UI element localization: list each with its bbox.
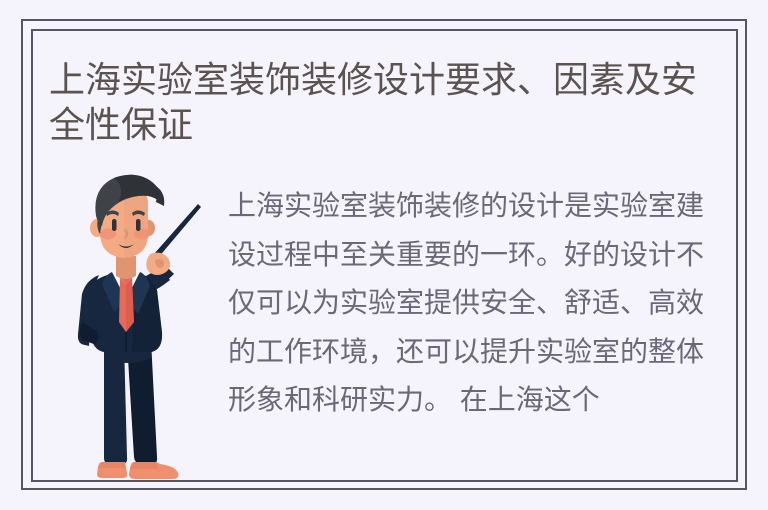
page-title: 上海实验室装饰装修设计要求、因素及安全性保证	[49, 57, 725, 147]
eye-left-icon	[112, 219, 117, 231]
shoe-left-shadow-icon	[98, 462, 126, 468]
shoe-right-shadow-icon	[130, 462, 158, 469]
cheek-right-icon	[134, 229, 150, 240]
page-root: 上海实验室装饰装修设计要求、因素及安全性保证	[0, 0, 768, 510]
article-body: 上海实验室装饰装修的设计是实验室建设过程中至关重要的一环。好的设计不仅可以为实验…	[228, 182, 725, 425]
illustration-businessman-with-pointer	[52, 172, 217, 484]
neck-icon	[116, 256, 136, 279]
eye-right-icon	[136, 219, 141, 231]
